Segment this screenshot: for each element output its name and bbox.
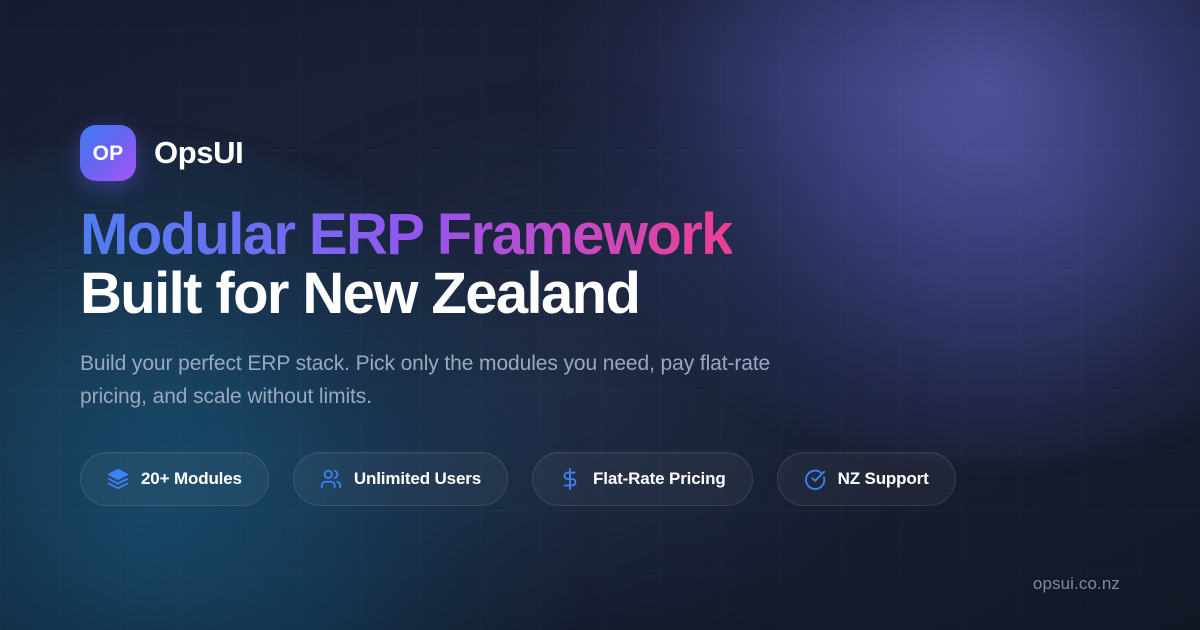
page-subtitle: Build your perfect ERP stack. Pick only … bbox=[80, 348, 792, 414]
dollar-icon bbox=[559, 468, 581, 490]
logo-mark-icon: OP bbox=[80, 125, 136, 181]
feature-pill-pricing[interactable]: Flat-Rate Pricing bbox=[532, 452, 753, 506]
headline-line-plain: Built for New Zealand bbox=[80, 264, 732, 323]
headline-line-gradient: Modular ERP Framework bbox=[80, 205, 732, 264]
content-container: OP OpsUI Modular ERP Framework Built for… bbox=[0, 0, 1200, 630]
feature-pill-label: 20+ Modules bbox=[141, 469, 242, 489]
feature-pill-label: Unlimited Users bbox=[354, 469, 481, 489]
footer-url: opsui.co.nz bbox=[1033, 574, 1120, 594]
feature-pill-label: NZ Support bbox=[838, 469, 929, 489]
brand-lockup: OP OpsUI bbox=[80, 125, 243, 181]
layers-icon bbox=[107, 468, 129, 490]
feature-pill-modules[interactable]: 20+ Modules bbox=[80, 452, 269, 506]
feature-pill-label: Flat-Rate Pricing bbox=[593, 469, 726, 489]
feature-pill-users[interactable]: Unlimited Users bbox=[293, 452, 508, 506]
page-title: Modular ERP Framework Built for New Zeal… bbox=[80, 205, 732, 323]
feature-pill-support[interactable]: NZ Support bbox=[777, 452, 956, 506]
brand-name: OpsUI bbox=[154, 135, 243, 171]
users-icon bbox=[320, 468, 342, 490]
feature-pill-row: 20+ Modules Unlimited Users bbox=[80, 452, 956, 506]
og-card: OP OpsUI Modular ERP Framework Built for… bbox=[0, 0, 1200, 630]
check-circle-icon bbox=[804, 468, 826, 490]
logo-mark-label: OP bbox=[93, 143, 124, 164]
